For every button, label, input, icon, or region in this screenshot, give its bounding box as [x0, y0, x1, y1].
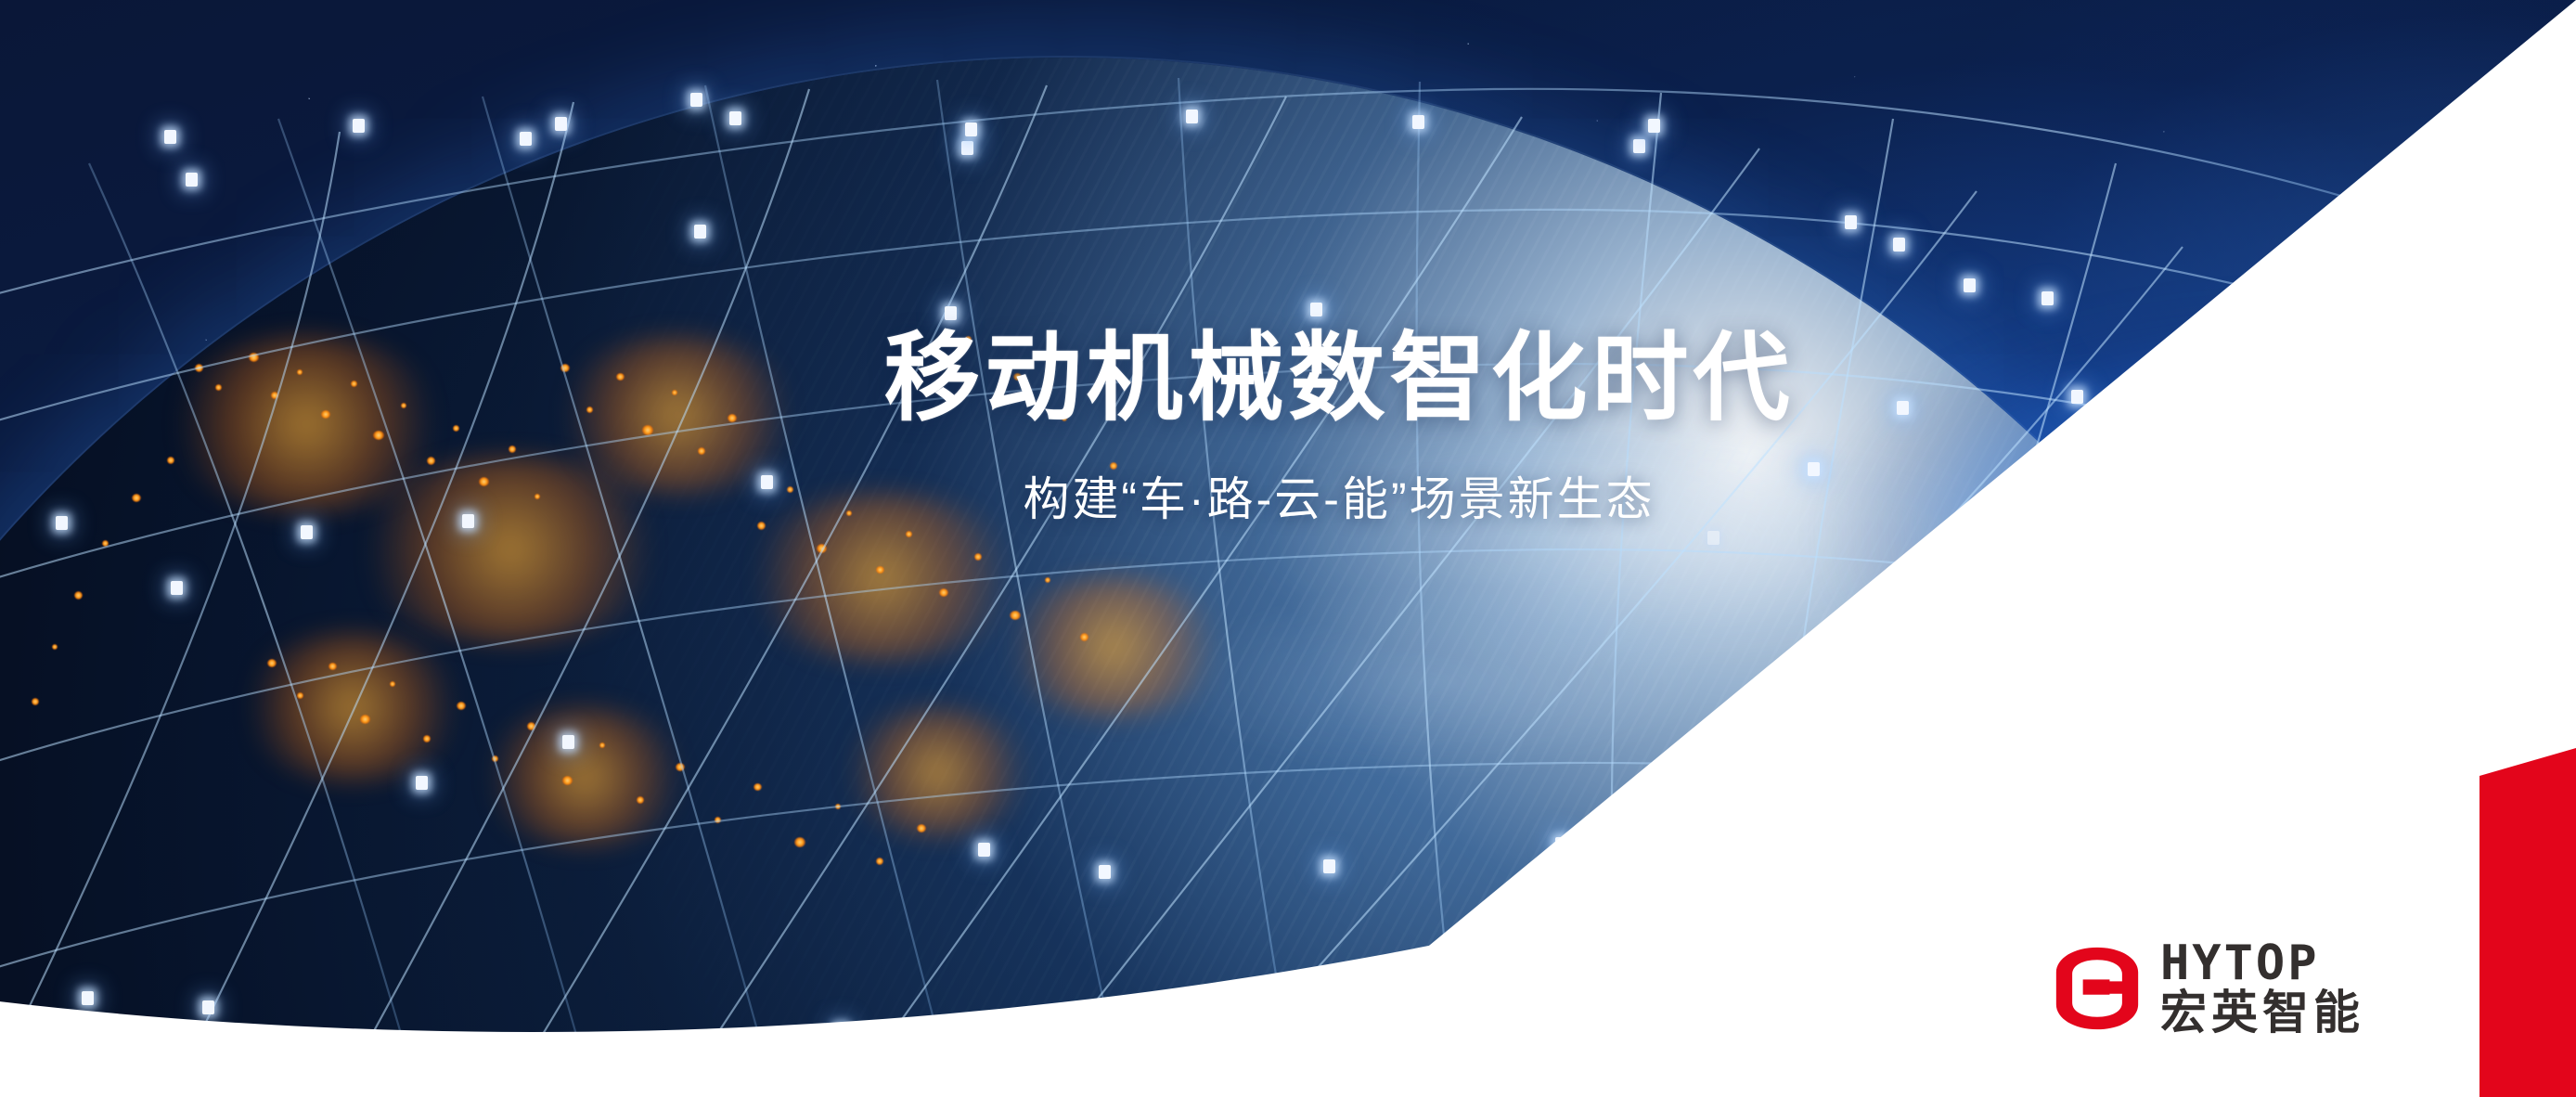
hytop-logo: HYTOP 宏英智能 [2053, 939, 2364, 1037]
slide-canvas: 移动机械数智化时代 构建“车·路-云-能”场景新生态 HYTOP 宏英智能 [0, 0, 2576, 1097]
logo-chinese-name: 宏英智能 [2160, 989, 2364, 1037]
slide-subtitle: 构建“车·路-云-能”场景新生态 [0, 462, 2576, 529]
hytop-g-mark-icon [2053, 944, 2142, 1033]
logo-english-name: HYTOP [2160, 939, 2364, 987]
title-block: 移动机械数智化时代 构建“车·路-云-能”场景新生态 [0, 327, 2576, 529]
logo-text: HYTOP 宏英智能 [2160, 939, 2364, 1037]
slide-title: 移动机械数智化时代 [0, 327, 2576, 431]
